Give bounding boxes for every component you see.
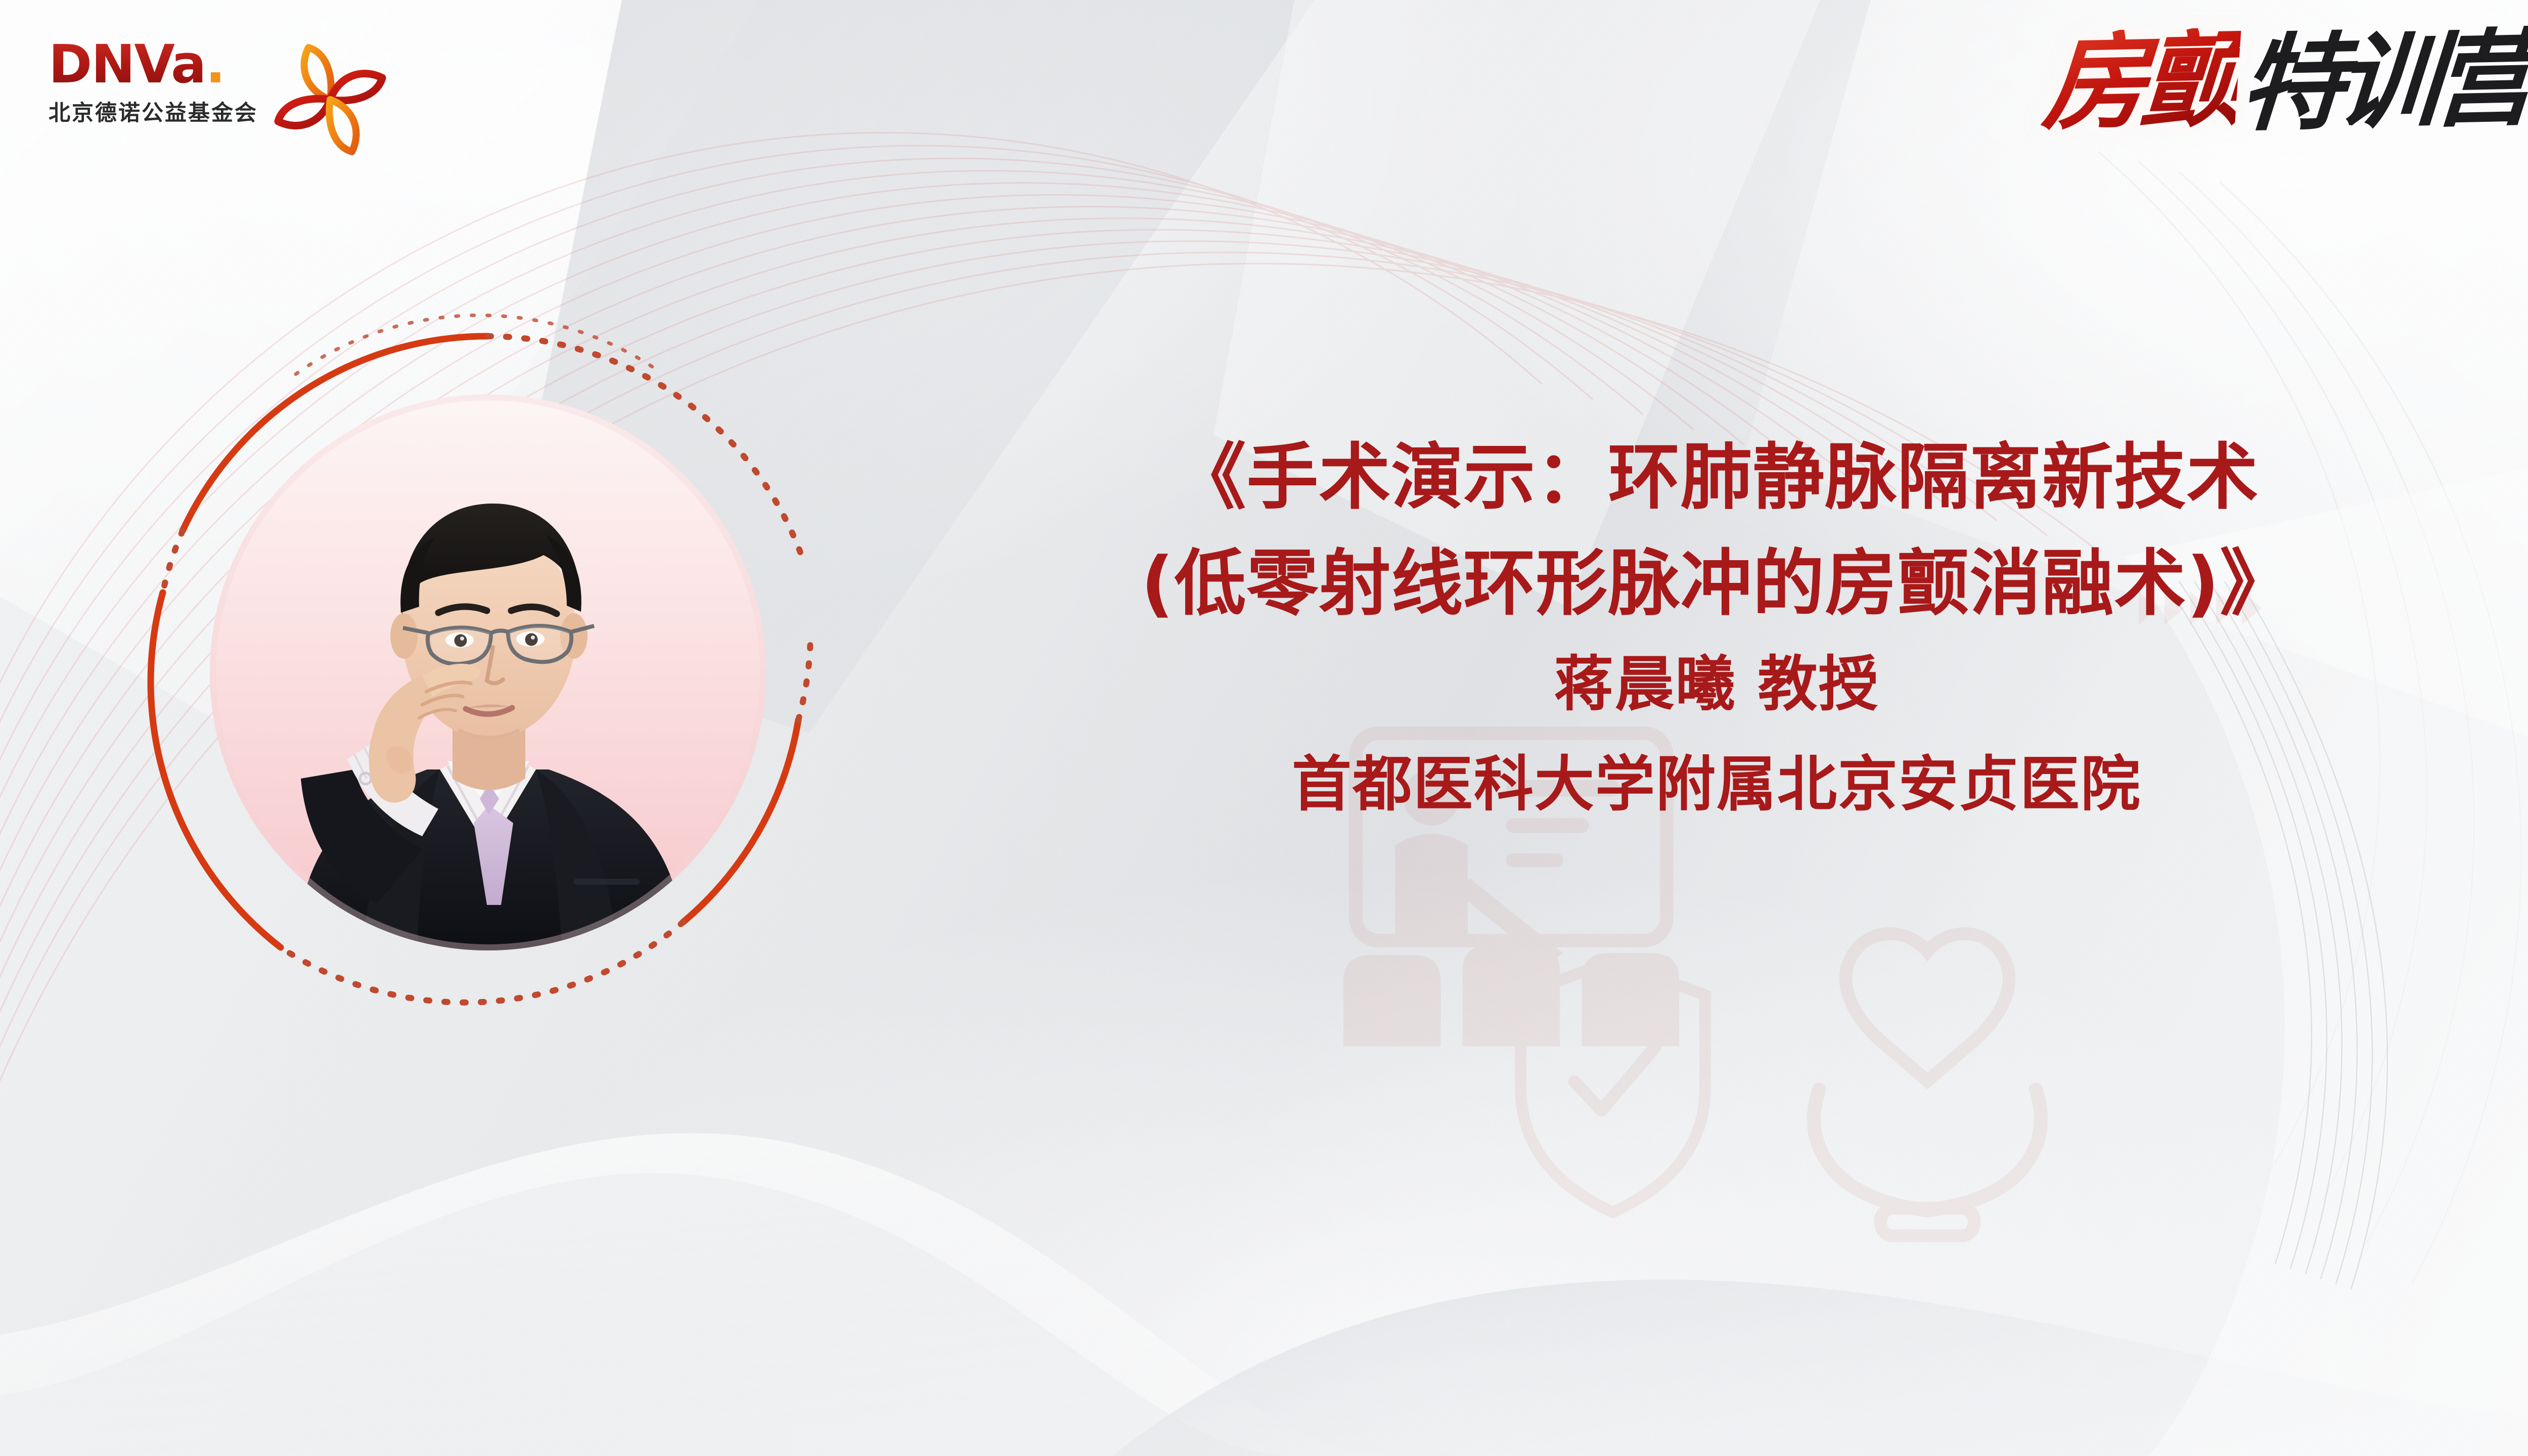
session-title-line-1: 《手术演示：环肺静脉隔离新技术	[905, 425, 2528, 531]
foundation-wordmark: DNVa.	[49, 39, 258, 89]
brand-logo-black-text: 特训营	[2237, 26, 2528, 136]
brand-logo: 房颤 特训营	[2044, 29, 2528, 133]
foundation-subtitle: 北京德诺公益基金会	[49, 96, 258, 127]
presenter-portrait	[129, 313, 847, 1031]
foundation-wordmark-dot: .	[205, 39, 224, 89]
presenter-name: 蒋晨曦 教授	[905, 640, 2528, 729]
four-petal-flower-icon	[267, 36, 393, 165]
title-block: 《手术演示：环肺静脉隔离新技术 (低零射线环形脉冲的房颤消融术)》 蒋晨曦 教授…	[905, 425, 2528, 829]
brand-logo-red-text: 房颤	[2040, 27, 2241, 135]
presenter-photo	[210, 394, 766, 950]
foundation-logo-text: DNVa. 北京德诺公益基金会	[49, 39, 258, 127]
foundation-logo: DNVa. 北京德诺公益基金会	[49, 39, 393, 165]
session-title-line-2: (低零射线环形脉冲的房颤消融术)》	[905, 531, 2528, 637]
foundation-wordmark-text: DNVa	[49, 39, 205, 89]
presenter-affiliation: 首都医科大学附属北京安贞医院	[905, 740, 2528, 829]
